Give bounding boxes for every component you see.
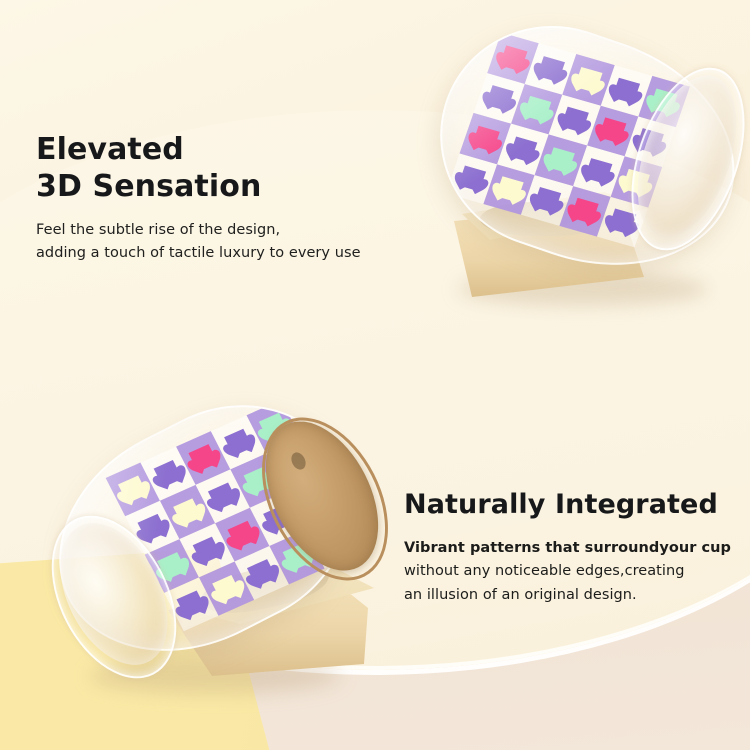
- top-body-text: Feel the subtle rise of the design, addi…: [36, 219, 361, 266]
- bottom-body-line-1: Vibrant patterns that surroundyour cup: [404, 537, 731, 560]
- bottom-body-text: Vibrant patterns that surroundyour cup w…: [404, 537, 731, 607]
- top-heading: Elevated 3D Sensation: [36, 132, 261, 205]
- bottom-heading: Naturally Integrated: [404, 489, 718, 520]
- bottom-body-line-3: an illusion of an original design.: [404, 584, 731, 607]
- top-body-line-2: adding a touch of tactile luxury to ever…: [36, 242, 361, 265]
- promo-image-canvas: Elevated 3D Sensation Feel the subtle ri…: [0, 0, 750, 750]
- bottom-body-line-2: without any noticeable edges,creating: [404, 560, 731, 583]
- bottom-product-scene: [30, 400, 410, 720]
- top-heading-line-2: 3D Sensation: [36, 169, 261, 206]
- top-heading-line-1: Elevated: [36, 132, 261, 169]
- top-body-line-1: Feel the subtle rise of the design,: [36, 219, 361, 242]
- top-product-scene: [430, 20, 750, 320]
